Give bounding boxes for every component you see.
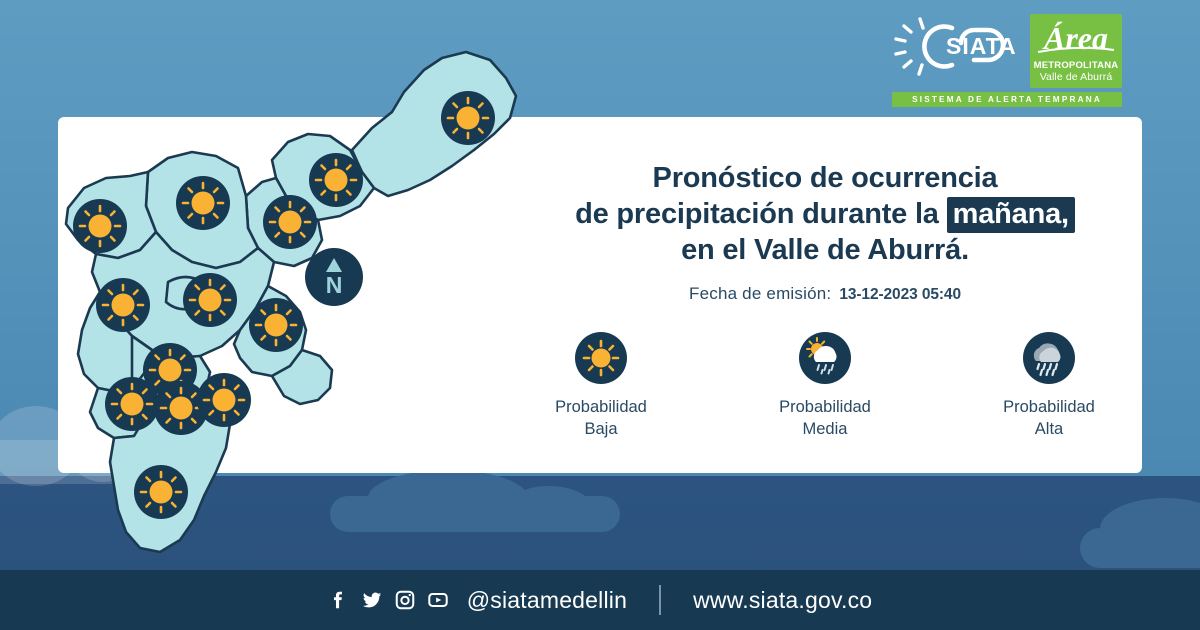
issue-date-value: 13-12-2023 05:40 xyxy=(839,286,961,304)
website-url[interactable]: www.siata.gov.co xyxy=(693,587,872,614)
title-line-1: Pronóstico de ocurrencia xyxy=(510,160,1140,196)
area-logo-sub1: METROPOLITANA xyxy=(1030,60,1122,71)
legend-item-media: Probabilidad Media xyxy=(750,332,900,440)
sun-behind-rain-cloud-icon xyxy=(799,332,851,384)
area-logo-sub2: Valle de Aburrá xyxy=(1030,71,1122,83)
rain-cloud-icon xyxy=(1023,332,1075,384)
title-highlight-period: mañana, xyxy=(947,197,1075,233)
title-line-3: en el Valle de Aburrá. xyxy=(510,232,1140,268)
area-metropolitana-logo: Área METROPOLITANA Valle de Aburrá xyxy=(1030,14,1122,88)
title-line-2: de precipitación durante la mañana, xyxy=(510,196,1140,232)
twitter-icon[interactable] xyxy=(361,589,383,611)
issue-date-label: Fecha de emisión: xyxy=(689,284,831,304)
sun-icon xyxy=(575,332,627,384)
legend-label-alta-line1: Probabilidad xyxy=(974,396,1124,418)
legend-label-alta-line2: Alta xyxy=(974,418,1124,440)
legend-label-media: Probabilidad Media xyxy=(750,396,900,440)
social-handle[interactable]: @siatamedellin xyxy=(467,587,627,614)
forecast-content: Pronóstico de ocurrencia de precipitació… xyxy=(510,160,1140,440)
footer-bar: @siatamedellin www.siata.gov.co xyxy=(0,570,1200,630)
tagline-bar: SISTEMA DE ALERTA TEMPRANA xyxy=(892,92,1122,107)
issue-date: Fecha de emisión: 13-12-2023 05:40 xyxy=(510,284,1140,304)
decorative-cloud-bottom-right xyxy=(1080,498,1200,568)
facebook-icon[interactable] xyxy=(328,589,350,611)
social-icons xyxy=(328,589,449,611)
legend-label-media-line1: Probabilidad xyxy=(750,396,900,418)
legend-label-baja: Probabilidad Baja xyxy=(526,396,676,440)
logo-bar: SIATA Área METROPOLITANA Valle de Aburrá… xyxy=(890,14,1122,108)
title-line-2-text: de precipitación durante la xyxy=(575,198,939,230)
siata-logo: SIATA xyxy=(890,14,1026,82)
area-script-word: Área xyxy=(1030,16,1122,60)
legend-label-media-line2: Media xyxy=(750,418,900,440)
tagline-text: SISTEMA DE ALERTA TEMPRANA xyxy=(912,95,1102,104)
probability-legend: Probabilidad Baja xyxy=(510,332,1140,440)
decorative-cloud-bottom-center xyxy=(330,470,620,532)
instagram-icon[interactable] xyxy=(394,589,416,611)
legend-item-alta: Probabilidad Alta xyxy=(974,332,1124,440)
legend-label-alta: Probabilidad Alta xyxy=(974,396,1124,440)
youtube-icon[interactable] xyxy=(427,589,449,611)
legend-label-baja-line2: Baja xyxy=(526,418,676,440)
footer-divider xyxy=(659,585,661,615)
svg-text:SIATA: SIATA xyxy=(946,33,1017,59)
legend-label-baja-line1: Probabilidad xyxy=(526,396,676,418)
page-title: Pronóstico de ocurrencia de precipitació… xyxy=(510,160,1140,268)
legend-item-baja: Probabilidad Baja xyxy=(526,332,676,440)
